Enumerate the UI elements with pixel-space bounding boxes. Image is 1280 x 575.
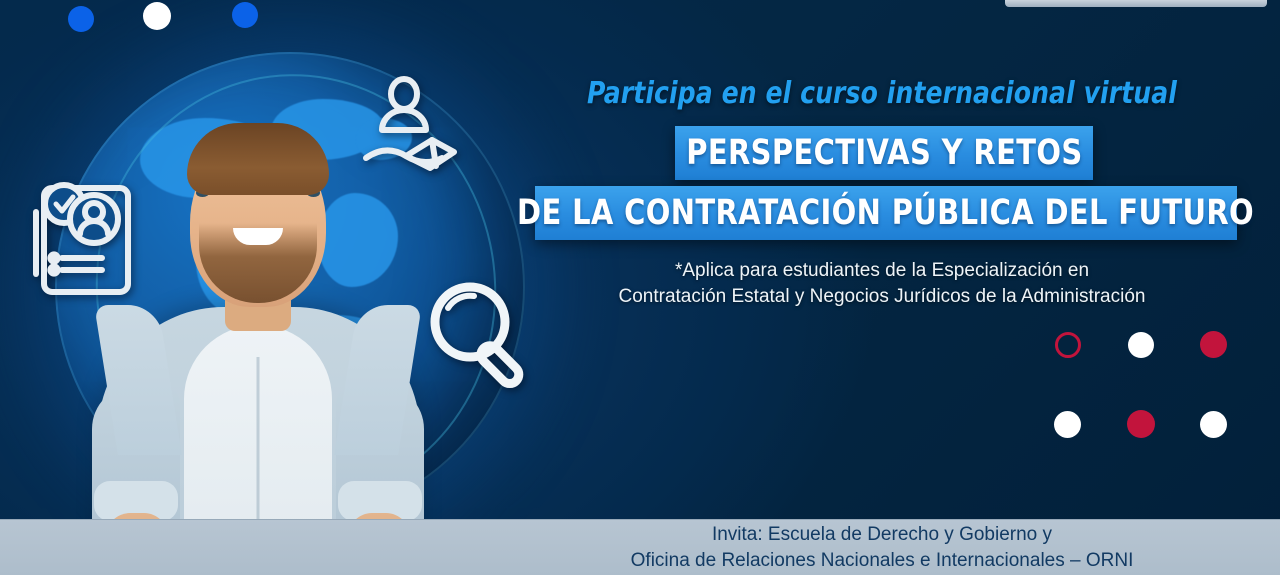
title-bar-line2: DE LA CONTRATACIÓN PÚBLICA DEL FUTURO (535, 186, 1237, 240)
top-dot-1 (68, 6, 94, 32)
organizers-text: Invita: Escuela de Derecho y Gobierno y … (520, 522, 1244, 574)
top-dot-3 (232, 2, 258, 28)
course-promo-banner: Participa en el curso internacional virt… (0, 0, 1280, 575)
text-content: Participa en el curso internacional virt… (520, 0, 1280, 519)
smiling-man-photo (62, 75, 454, 575)
top-dot-2 (143, 2, 171, 30)
eligibility-note-line2: Contratación Estatal y Negocios Jurídico… (520, 284, 1244, 310)
title-line1-text: PERSPECTIVAS Y RETOS (686, 133, 1082, 173)
course-kicker: Participa en el curso internacional virt… (545, 76, 1218, 111)
organizers-line1: Invita: Escuela de Derecho y Gobierno y (520, 522, 1244, 548)
footer-band: Invita: Escuela de Derecho y Gobierno y … (0, 519, 1280, 575)
organizers-line2: Oficina de Relaciones Nacionales e Inter… (520, 548, 1244, 574)
eligibility-note: *Aplica para estudiantes de la Especiali… (520, 258, 1244, 310)
title-line2-text: DE LA CONTRATACIÓN PÚBLICA DEL FUTURO (517, 193, 1254, 233)
title-bar-line1: PERSPECTIVAS Y RETOS (675, 126, 1093, 180)
eligibility-note-line1: *Aplica para estudiantes de la Especiali… (520, 258, 1244, 284)
